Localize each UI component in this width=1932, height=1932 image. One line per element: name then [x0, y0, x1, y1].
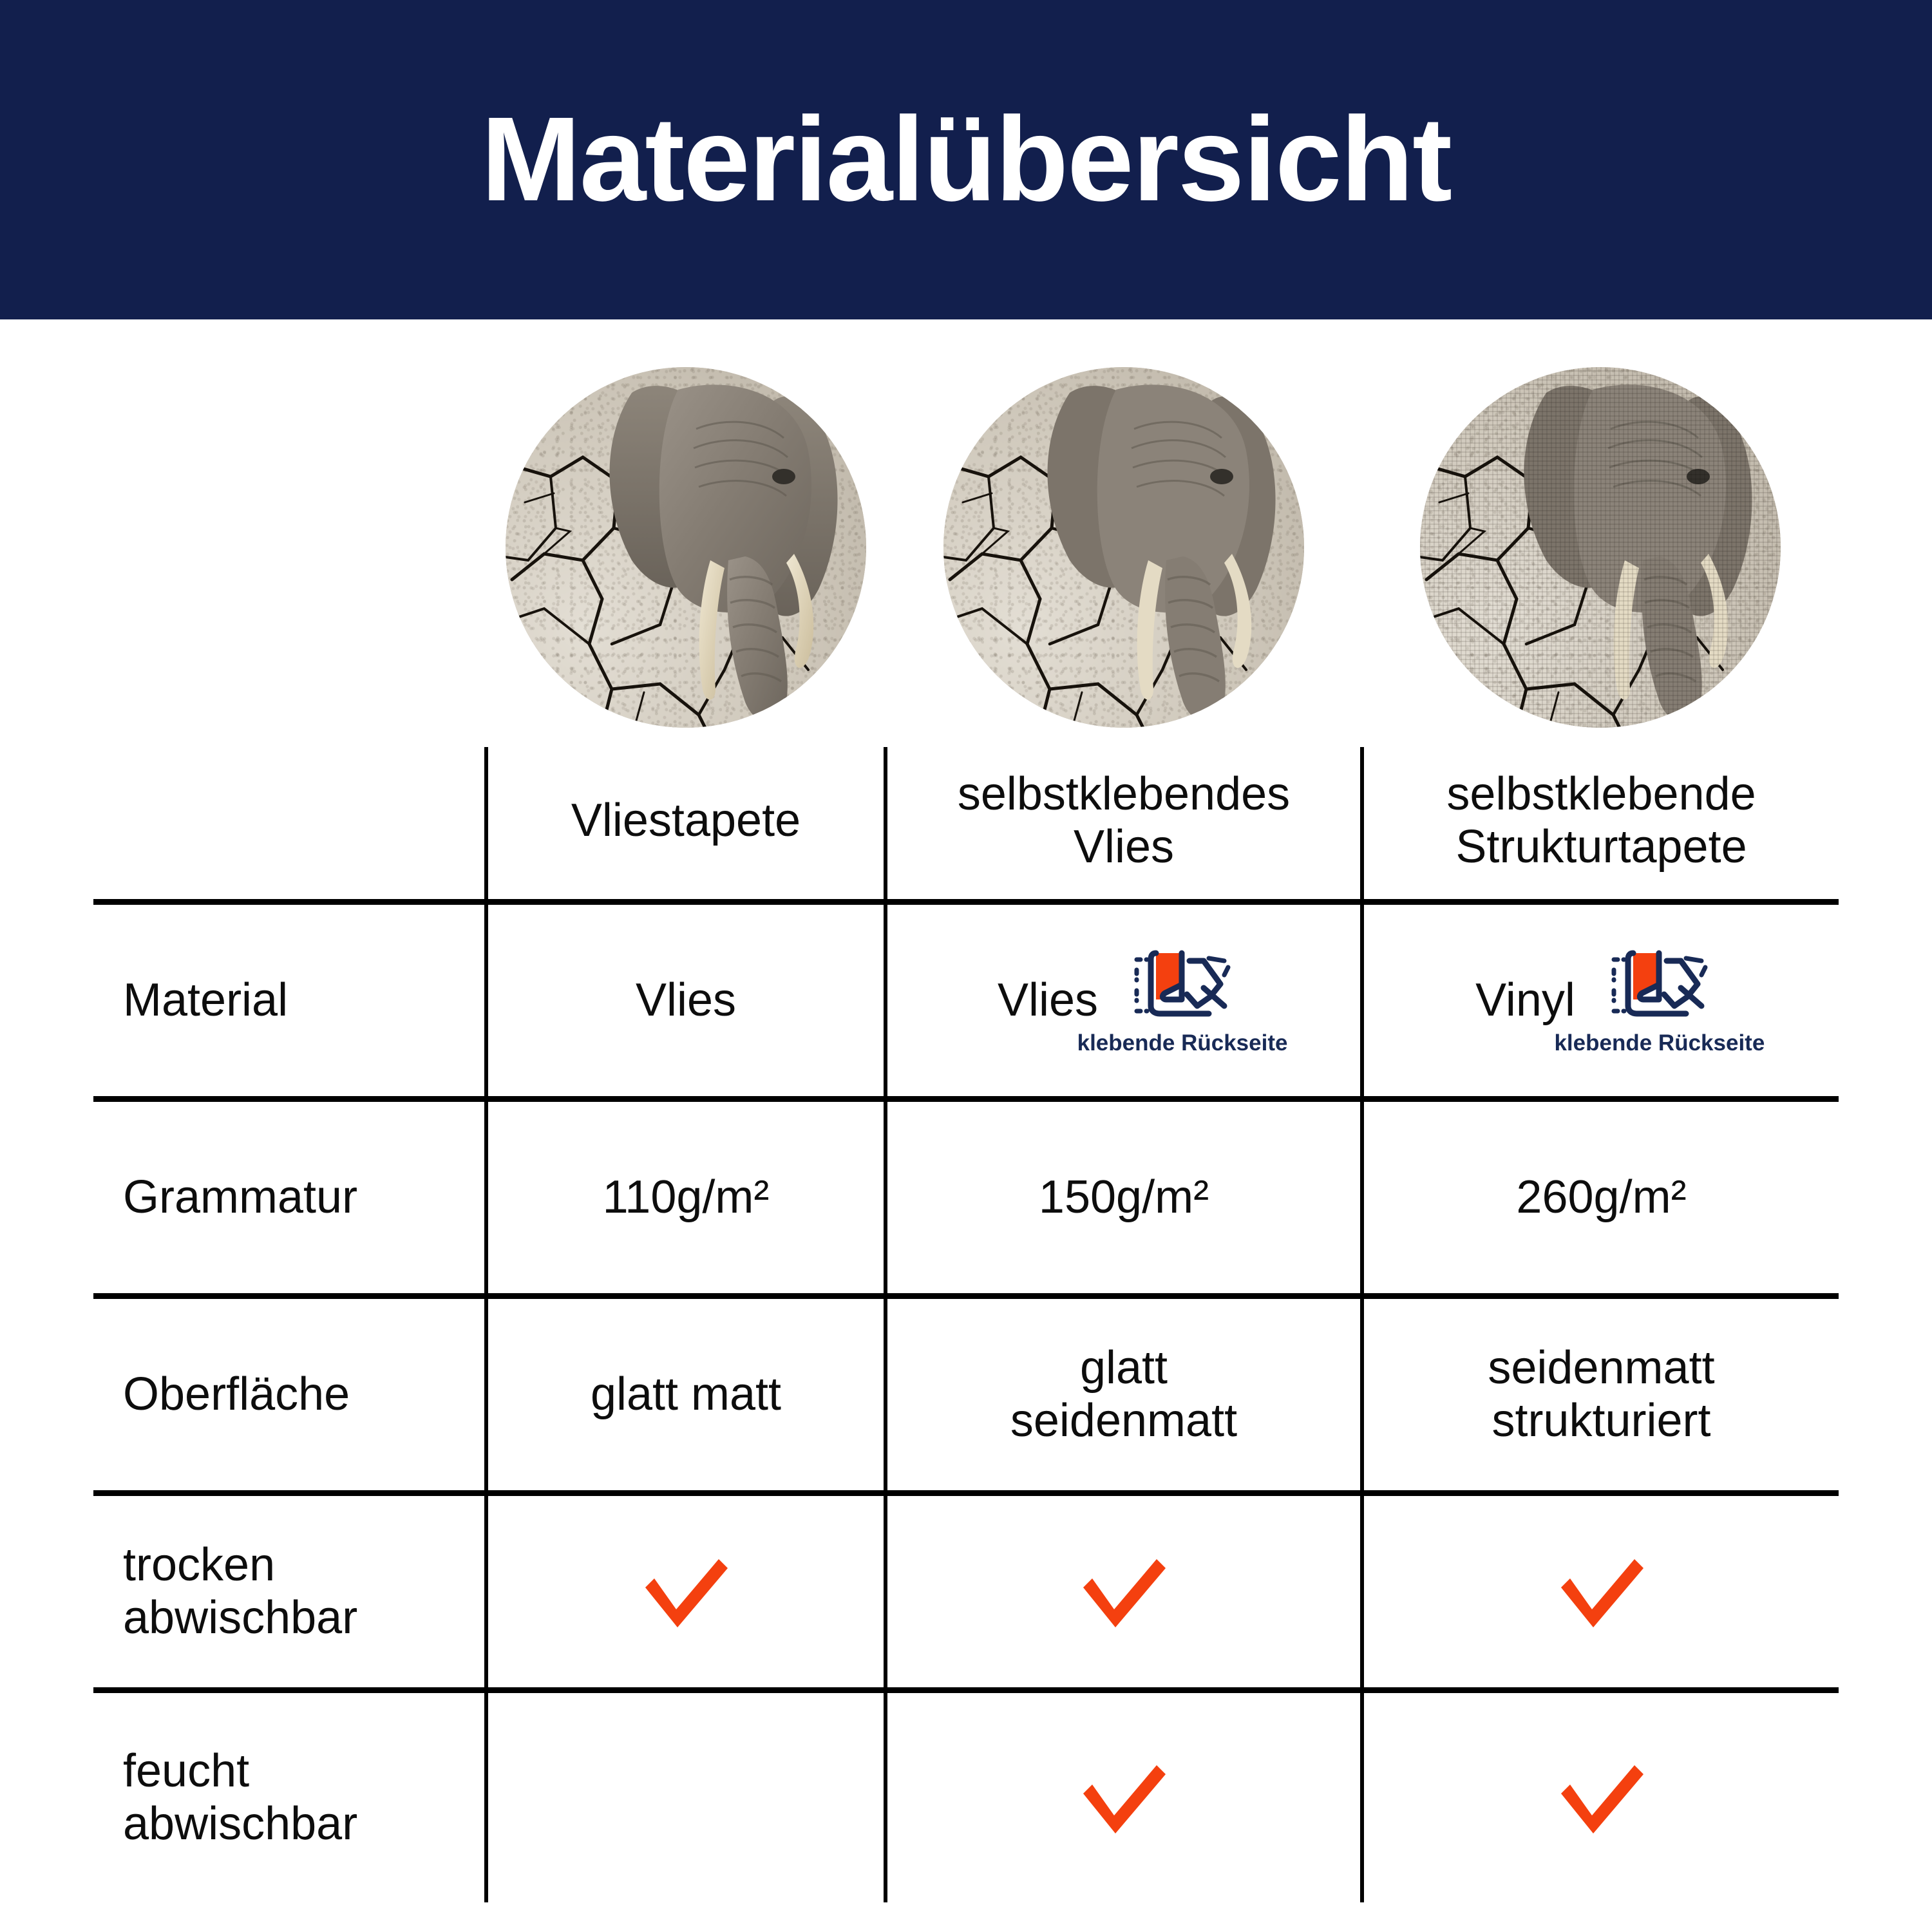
row-label-grammatur: Grammatur: [93, 1099, 486, 1296]
check-icon: [638, 1553, 734, 1630]
cell-trocken-col2: [885, 1493, 1362, 1690]
cell-material-col2: Vlies: [885, 902, 1362, 1099]
table-row-grammatur: Grammatur 110g/m² 150g/m² 260g/m²: [93, 1099, 1839, 1296]
table-row-feucht-abwischbar: feucht abwischbar: [93, 1690, 1839, 1902]
product-image-selbstklebende-strukturtapete: [1420, 367, 1781, 728]
elephant-illustration-icon: [943, 367, 1304, 728]
cell-trocken-col1: [486, 1493, 885, 1690]
cell-oberflaeche-col1: glatt matt: [486, 1296, 885, 1493]
table-corner-cell: [93, 747, 486, 902]
cell-feucht-col3: [1362, 1690, 1839, 1902]
column-header-vliestapete: Vliestapete: [486, 747, 885, 902]
peel-sticker-icon: [1605, 944, 1714, 1028]
peel-sticker-icon: [1128, 944, 1237, 1028]
check-icon: [1075, 1759, 1172, 1836]
material-overview-page: Materialübersicht: [0, 0, 1932, 1932]
cell-value: Vlies: [998, 974, 1098, 1027]
check-icon: [1075, 1553, 1172, 1630]
cell-grammatur-col3: 260g/m²: [1362, 1099, 1839, 1296]
structure-texture-overlay: [1420, 367, 1781, 728]
row-label-material: Material: [93, 902, 486, 1099]
table-row-material: Material Vlies Vlies: [93, 902, 1839, 1099]
adhesive-back-badge: klebende Rückseite: [1115, 944, 1250, 1056]
adhesive-back-badge: klebende Rückseite: [1592, 944, 1727, 1056]
elephant-illustration-icon: [506, 367, 866, 728]
row-label-trocken-abwischbar: trocken abwischbar: [93, 1493, 486, 1690]
column-header-line: Vliestapete: [496, 794, 876, 847]
product-image-cell-2: [885, 361, 1362, 734]
row-label-oberflaeche: Oberfläche: [93, 1296, 486, 1493]
cell-grammatur-col1: 110g/m²: [486, 1099, 885, 1296]
adhesive-back-badge-text: klebende Rückseite: [1077, 1030, 1288, 1056]
product-image-row: [93, 348, 1839, 747]
cell-feucht-col1: [486, 1690, 885, 1902]
cell-oberflaeche-col2: glatt seidenmatt: [885, 1296, 1362, 1493]
check-icon: [1553, 1759, 1650, 1836]
page-header-banner: Materialübersicht: [0, 0, 1932, 319]
column-header-line: Vlies: [895, 820, 1352, 873]
adhesive-back-badge-text: klebende Rückseite: [1554, 1030, 1765, 1056]
table-row-oberflaeche: Oberfläche glatt matt glatt seidenmatt: [93, 1296, 1839, 1493]
page-title: Materialübersicht: [481, 100, 1451, 220]
column-header-line: selbstklebende: [1372, 768, 1831, 820]
cell-material-col1: Vlies: [486, 902, 885, 1099]
no-check-placeholder: [686, 1812, 687, 1813]
table-row-trocken-abwischbar: trocken abwischbar: [93, 1493, 1839, 1690]
product-image-selbstklebendes-vlies: [943, 367, 1304, 728]
table-header-row: Vliestapete selbstklebendes Vlies selbst…: [93, 747, 1839, 902]
row-label-feucht-abwischbar: feucht abwischbar: [93, 1690, 486, 1902]
cell-trocken-col3: [1362, 1493, 1839, 1690]
product-image-cell-1: [486, 361, 885, 734]
product-image-vliestapete: [506, 367, 866, 728]
column-header-line: selbstklebendes: [895, 768, 1352, 820]
cell-oberflaeche-col3: seidenmatt strukturiert: [1362, 1296, 1839, 1493]
material-comparison-table: Vliestapete selbstklebendes Vlies selbst…: [93, 747, 1839, 1902]
column-header-selbstklebende-strukturtapete: selbstklebende Strukturtapete: [1362, 747, 1839, 902]
cell-value: Vlies: [636, 974, 736, 1027]
cell-material-col3: Vinyl: [1362, 902, 1839, 1099]
column-header-selbstklebendes-vlies: selbstklebendes Vlies: [885, 747, 1362, 902]
material-comparison-table-wrapper: Vliestapete selbstklebendes Vlies selbst…: [93, 747, 1839, 1902]
product-image-cell-3: [1362, 361, 1839, 734]
column-header-line: Strukturtapete: [1372, 820, 1831, 873]
cell-grammatur-col2: 150g/m²: [885, 1099, 1362, 1296]
cell-value: Vinyl: [1475, 974, 1575, 1027]
check-icon: [1553, 1553, 1650, 1630]
cell-feucht-col2: [885, 1690, 1362, 1902]
